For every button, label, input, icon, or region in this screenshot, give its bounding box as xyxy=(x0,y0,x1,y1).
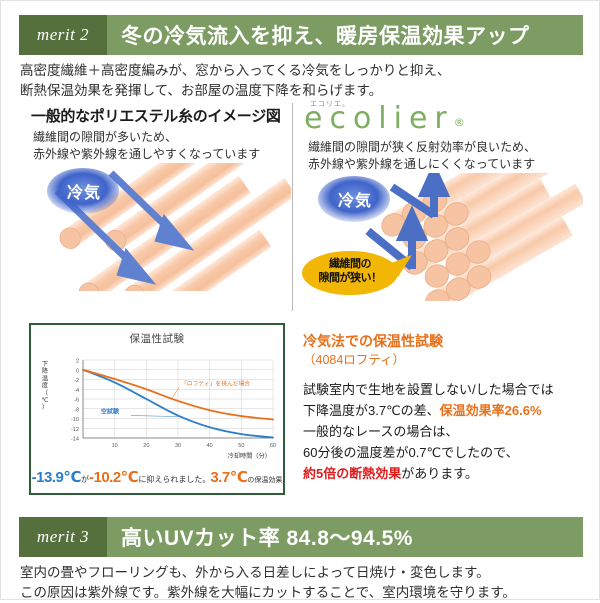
merit2-lead-line2: 断熱保温効果を発揮して、お部屋の温度下降を和らげます。 xyxy=(20,81,586,101)
merit3-lead-line2: この原因は紫外線です。紫外線を大幅にカットすることで、室内環境を守ります。 xyxy=(20,583,586,603)
bubble-line2: 隙間が狭い！ xyxy=(304,271,396,285)
svg-text:-12: -12 xyxy=(71,427,79,433)
svg-text:-2: -2 xyxy=(74,378,79,384)
merit2-lead-line1: 高密度繊維＋高密度編みが、窓から入ってくる冷気をしっかりと抑え、 xyxy=(20,61,586,81)
side-body-line1: 試験室内で生地を設置しない/した場合では xyxy=(303,379,593,400)
svg-text:温: 温 xyxy=(42,374,48,382)
side-body-line3: 一般的なレースの場合は、 xyxy=(303,421,593,442)
side-body-line5-b: があります。 xyxy=(401,466,478,481)
panel-left-sub-line2: 赤外線や紫外線を通しやすくなっています xyxy=(33,146,291,163)
side-body-line5-highlight: 約5倍の断熱効果 xyxy=(303,466,401,481)
chart-plot-area: 20-2-4-6-8-10-12-14102030405060下降温度（℃）冷却… xyxy=(31,346,283,464)
svg-text:-8: -8 xyxy=(74,407,79,413)
panel-divider xyxy=(292,103,293,311)
panel-left-subtext: 繊維間の隙間が多いため、 赤外線や紫外線を通しやすくなっています xyxy=(33,129,291,163)
svg-text:）: ） xyxy=(42,404,48,411)
caption-mid2: に抑えられました。 xyxy=(138,475,210,484)
svg-text:（: （ xyxy=(42,390,48,397)
merit2-banner: merit 2 冬の冷気流入を抑え、暖房保温効果アップ xyxy=(19,15,583,55)
svg-text:20: 20 xyxy=(143,443,149,449)
svg-text:2: 2 xyxy=(76,359,79,365)
merit2-lead: 高密度繊維＋高密度編みが、窓から入ってくる冷気をしっかりと抑え、 断熱保温効果を… xyxy=(20,61,586,101)
registered-mark-icon: ® xyxy=(454,116,465,129)
ecolier-logo-text: ecolier® xyxy=(304,104,465,134)
svg-text:℃: ℃ xyxy=(42,397,49,404)
bubble-line1: 繊維間の xyxy=(304,257,396,271)
merit3-lead-line1: 室内の畳やフローリングも、外から入る日差しによって日焼け・変色します。 xyxy=(20,563,586,583)
svg-text:降: 降 xyxy=(42,367,48,375)
side-title-line1: 冷気法での保温性試験 xyxy=(303,331,593,351)
svg-text:10: 10 xyxy=(112,443,118,449)
ecolier-logo: エコリエ。 ecolier® xyxy=(304,99,583,137)
panel-left-sub-line1: 繊維間の隙間が多いため、 xyxy=(33,129,291,146)
panel-standard-polyester: 一般的なポリエステル糸のイメージ図 繊維間の隙間が多いため、 赤外線や紫外線を通… xyxy=(19,101,291,313)
cold-air-label-left: 冷気 xyxy=(49,169,119,213)
bubble-text: 繊維間の 隙間が狭い！ xyxy=(304,257,396,285)
side-body-line2-highlight: 保温効果率26.6% xyxy=(440,403,542,418)
caption-mid1: が xyxy=(81,475,89,484)
svg-text:40: 40 xyxy=(207,443,213,449)
infographic-page: merit 2 冬の冷気流入を抑え、暖房保温効果アップ 高密度繊維＋高密度編みが… xyxy=(0,0,600,600)
chart-title: 保温性試験 xyxy=(31,331,283,346)
panel-right-subtext: 繊維間の隙間が狭く反射効率が良いため、 赤外線や紫外線を通しにくくなっています xyxy=(308,139,583,173)
merit3-badge: merit 3 xyxy=(19,517,107,557)
svg-text:-10: -10 xyxy=(71,417,79,423)
panel-right-sub-line1: 繊維間の隙間が狭く反射効率が良いため、 xyxy=(308,139,583,156)
side-body-line2: 下降温度が3.7℃の差、保温効果率26.6% xyxy=(303,400,593,421)
panel-ecolier: エコリエ。 ecolier® 繊維間の隙間が狭く反射効率が良いため、 赤外線や紫… xyxy=(294,101,583,313)
svg-text:-4: -4 xyxy=(74,388,79,394)
svg-text:50: 50 xyxy=(238,443,244,449)
merit2-badge: merit 2 xyxy=(19,15,107,55)
side-title-line2: （4084ロフティ） xyxy=(303,351,593,370)
side-body-line4: 60分後の温度差が0.7℃でしたので、 xyxy=(303,442,593,463)
side-body-line2-a: 下降温度が3.7℃の差、 xyxy=(303,403,440,418)
svg-text:-6: -6 xyxy=(74,398,79,404)
svg-text:30: 30 xyxy=(175,443,181,449)
side-body: 試験室内で生地を設置しない/した場合では 下降温度が3.7℃の差、保温効果率26… xyxy=(303,379,593,484)
svg-text:60: 60 xyxy=(270,443,276,449)
svg-text:冷却時間（分）: 冷却時間（分） xyxy=(228,452,271,460)
merit3-lead: 室内の畳やフローリングも、外から入る日差しによって日焼け・変色します。 この原因… xyxy=(20,563,586,603)
svg-text:「ロフティ」を挟んだ場合: 「ロフティ」を挟んだ場合 xyxy=(181,379,250,387)
svg-text:度: 度 xyxy=(42,382,48,390)
caption-effect-value: 3.7℃ xyxy=(210,469,247,486)
dense-fiber-illustration: 冷気 繊維間の 隙間が狭い！ xyxy=(294,173,583,301)
merit2-title: 冬の冷気流入を抑え、暖房保温効果アップ xyxy=(107,15,583,55)
side-body-line5: 約5倍の断熱効果があります。 xyxy=(303,463,593,484)
caption-orange-value: -10.2℃ xyxy=(89,469,138,486)
svg-text:下: 下 xyxy=(42,361,48,368)
caption-tail: の保温効果 xyxy=(247,477,282,484)
panel-left-heading: 一般的なポリエステル糸のイメージ図 xyxy=(31,105,291,126)
svg-text:0: 0 xyxy=(76,368,79,374)
insulation-test-chart: 保温性試験 20-2-4-6-8-10-12-14102030405060下降温… xyxy=(29,323,285,495)
svg-text:空試験: 空試験 xyxy=(101,408,120,416)
chart-caption: -13.9℃が-10.2℃に抑えられました。3.7℃の保温効果 xyxy=(31,468,283,487)
svg-text:-14: -14 xyxy=(71,437,79,443)
merit3-title: 高いUVカット率 84.8〜94.5% xyxy=(107,517,583,557)
loose-fiber-illustration: 冷気 xyxy=(19,163,291,291)
panel-right-sub-line2: 赤外線や紫外線を通しにくくなっています xyxy=(308,156,583,173)
merit3-banner: merit 3 高いUVカット率 84.8〜94.5% xyxy=(19,517,583,557)
caption-blue-value: -13.9℃ xyxy=(32,469,81,486)
cold-air-label-right: 冷気 xyxy=(320,177,390,221)
fiber-comparison-panels: 一般的なポリエステル糸のイメージ図 繊維間の隙間が多いため、 赤外線や紫外線を通… xyxy=(19,101,583,313)
test-description: 冷気法での保温性試験 （4084ロフティ） 試験室内で生地を設置しない/した場合… xyxy=(303,331,593,484)
